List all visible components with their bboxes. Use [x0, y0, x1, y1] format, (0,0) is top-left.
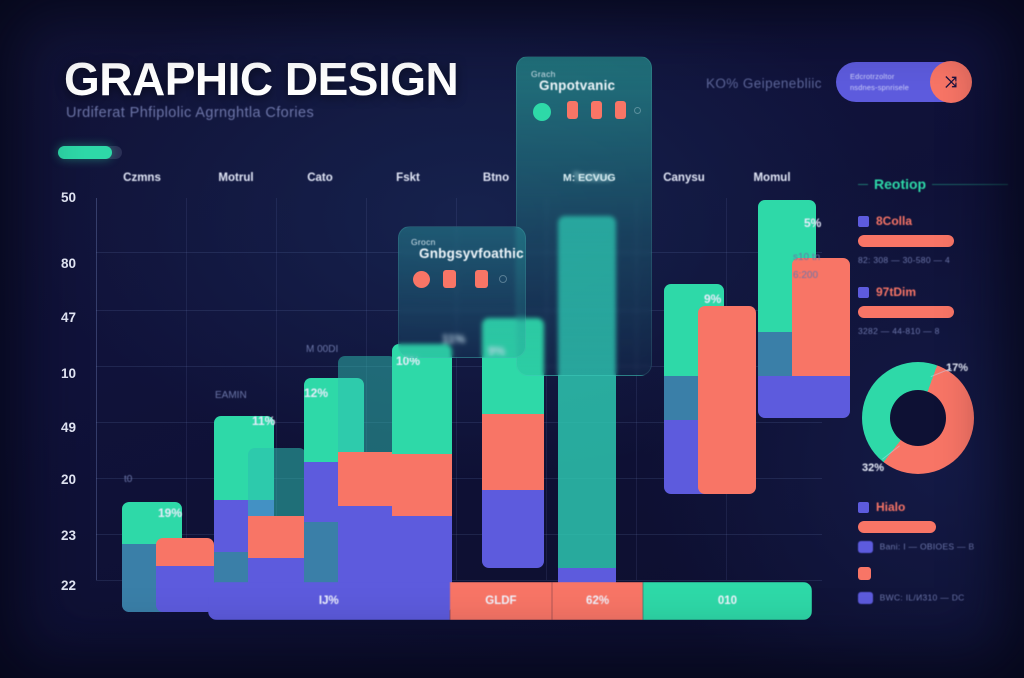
bar-group-2b[interactable] [338, 356, 396, 612]
swatch-coral-icon [615, 101, 626, 119]
y-tick-label: 20 [30, 472, 76, 487]
legend-swatch-purple-icon [858, 502, 869, 513]
stacked-bar-segment-coral-1[interactable]: GLDF [450, 582, 553, 620]
bar-segment-purple [156, 566, 214, 612]
bar-segment-teal-faded [248, 448, 306, 516]
page-title: GRAPHIC DESIGN [64, 52, 458, 106]
bar-value-label: 19% [158, 506, 182, 520]
legend-caption-text: Bani: I — OBIOES — B [880, 541, 975, 551]
x-tick-label: Fskt [396, 172, 420, 184]
swatch-outline-icon [499, 275, 507, 283]
sidebar-bottom-legend: Hialo Bani: I — OBIOES — B BWC: IL/И310 … [858, 500, 1008, 624]
swatch-coral-icon [443, 270, 456, 288]
chart-annotation: s10 tn [793, 252, 820, 263]
x-tick-label: Btno [483, 172, 509, 184]
sidebar-heading: Reotiop [858, 176, 1008, 192]
legend-swatch-coral-icon [858, 567, 871, 580]
header-action-pill[interactable]: Edcrotrzoltor nsdnes-spnrisele ⤨ [836, 62, 970, 102]
chart-annotation: 6:200 [793, 270, 818, 281]
bar-segment-purple [482, 490, 544, 568]
legend-caption: 82: 308 — 30-580 — 4 [858, 255, 1008, 265]
sidebar-item-0[interactable]: 8Colla 82: 308 — 30-580 — 4 [858, 214, 1008, 265]
legend-caption: 3282 — 44-810 — 8 [858, 326, 1008, 336]
divider-left [858, 184, 868, 185]
y-tick-label: 47 [30, 310, 76, 325]
y-tick-label: 10 [30, 366, 76, 381]
bar-segment-coral [698, 306, 756, 494]
y-axis [96, 198, 97, 580]
legend-progress-bar[interactable] [858, 306, 954, 318]
divider-right [932, 184, 1008, 185]
bar-segment-coral [338, 452, 396, 506]
bar-segment-purple [792, 376, 850, 418]
overlay-card-top[interactable]: Grach Gnpotvanic [516, 56, 652, 376]
legend-label: 97tDim [876, 285, 916, 299]
swatch-coral-circle-icon [413, 271, 430, 288]
bar-segment-teal-faded [338, 356, 396, 452]
legend-row: 97tDim [858, 285, 1008, 299]
legend-row[interactable]: Hialo [858, 500, 1008, 514]
legend-chip-icon [858, 541, 873, 553]
bar-value-label: 5% [804, 216, 821, 230]
bottom-stacked-bar[interactable]: IJ% GLDF 62% 010 [208, 582, 812, 620]
gridline [96, 534, 822, 535]
shuffle-icon[interactable]: ⤨ [930, 61, 972, 103]
bar-group-7b[interactable] [792, 258, 850, 418]
swatch-coral-icon [567, 101, 578, 119]
legend-caption: Bani: I — OBIOES — B [858, 541, 1008, 553]
legend-label: Hialo [876, 500, 905, 514]
swatch-outline-icon [634, 107, 641, 114]
sidebar-item-1[interactable]: 97tDim 3282 — 44-810 — 8 [858, 285, 1008, 336]
stacked-bar-segment-purple[interactable]: IJ% [208, 582, 450, 620]
bar-value-label: 12% [304, 386, 328, 400]
page-subtitle: Urdiferat Phfiplolic Agrnghtla Cfories [66, 105, 314, 121]
chart-annotation: EAMIN [215, 390, 247, 401]
header-progress-bar[interactable] [58, 146, 122, 159]
y-tick-label: 49 [30, 420, 76, 435]
y-tick-label: 50 [30, 190, 76, 205]
swatch-coral-icon [591, 101, 602, 119]
bar-group-0b[interactable] [156, 538, 214, 612]
x-tick-label: Cato [307, 172, 333, 184]
overlay-title: Gnpotvanic [539, 78, 615, 93]
x-tick-label: Canysu [663, 172, 705, 184]
donut-center [890, 390, 946, 446]
x-tick-label: Momul [753, 172, 790, 184]
legend-chip-icon [858, 592, 873, 604]
gridline-vertical [186, 198, 187, 580]
legend-swatch-purple-icon [858, 216, 869, 227]
legend-label: 8Colla [876, 214, 912, 228]
bar-segment-coral [248, 516, 306, 558]
header-action-pill-label: Edcrotrzoltor nsdnes-spnrisele [836, 71, 924, 93]
overlay-sub-note: M: ECVUG [563, 172, 616, 184]
chart-annotation: t0 [124, 474, 132, 485]
overlay-title: Gnbgsyvfoathic [419, 246, 524, 261]
stacked-bar-segment-coral-2[interactable]: 62% [552, 582, 643, 620]
bar-value-label: 9% [704, 292, 721, 306]
swatch-coral-icon [475, 270, 488, 288]
bar-segment-coral [392, 454, 452, 516]
bar-value-label: 11% [252, 414, 275, 428]
header-progress-fill [58, 146, 112, 159]
donut-label-bottom: 32% [862, 462, 884, 474]
legend-caption: BWC: IL/И310 — DC [858, 592, 1008, 604]
overlay-card-mid[interactable]: Grocn Gnbgsyvfoathic [398, 226, 526, 358]
y-tick-label: 22 [30, 578, 76, 593]
bar-group-6b[interactable] [698, 306, 756, 494]
y-tick-label: 23 [30, 528, 76, 543]
legend-progress-bar[interactable] [858, 521, 936, 533]
bar-segment-coral [156, 538, 214, 566]
x-tick-label: Motrul [218, 172, 253, 184]
y-tick-label: 80 [30, 256, 76, 271]
bar-group-3[interactable] [392, 344, 452, 612]
x-tick-label: Czmns [123, 172, 161, 184]
legend-progress-bar[interactable] [858, 235, 954, 247]
legend-row: 8Colla [858, 214, 1008, 228]
sidebar: Reotiop 8Colla 82: 308 — 30-580 — 4 97tD… [858, 176, 1008, 356]
status-dot-teal-icon [533, 103, 551, 121]
legend-caption-text: BWC: IL/И310 — DC [880, 592, 965, 602]
bar-segment-coral [482, 414, 544, 490]
legend-swatch-purple-icon [858, 287, 869, 298]
chart-annotation: M 00DI [306, 344, 338, 355]
sidebar-heading-label: Reotiop [874, 176, 926, 192]
stacked-bar-segment-teal[interactable]: 010 [643, 582, 812, 620]
dashboard-root: GRAPHIC DESIGN Urdiferat Phfiplolic Agrn… [0, 0, 1024, 678]
kpi-text: KO% Geipenebliic [706, 76, 822, 91]
